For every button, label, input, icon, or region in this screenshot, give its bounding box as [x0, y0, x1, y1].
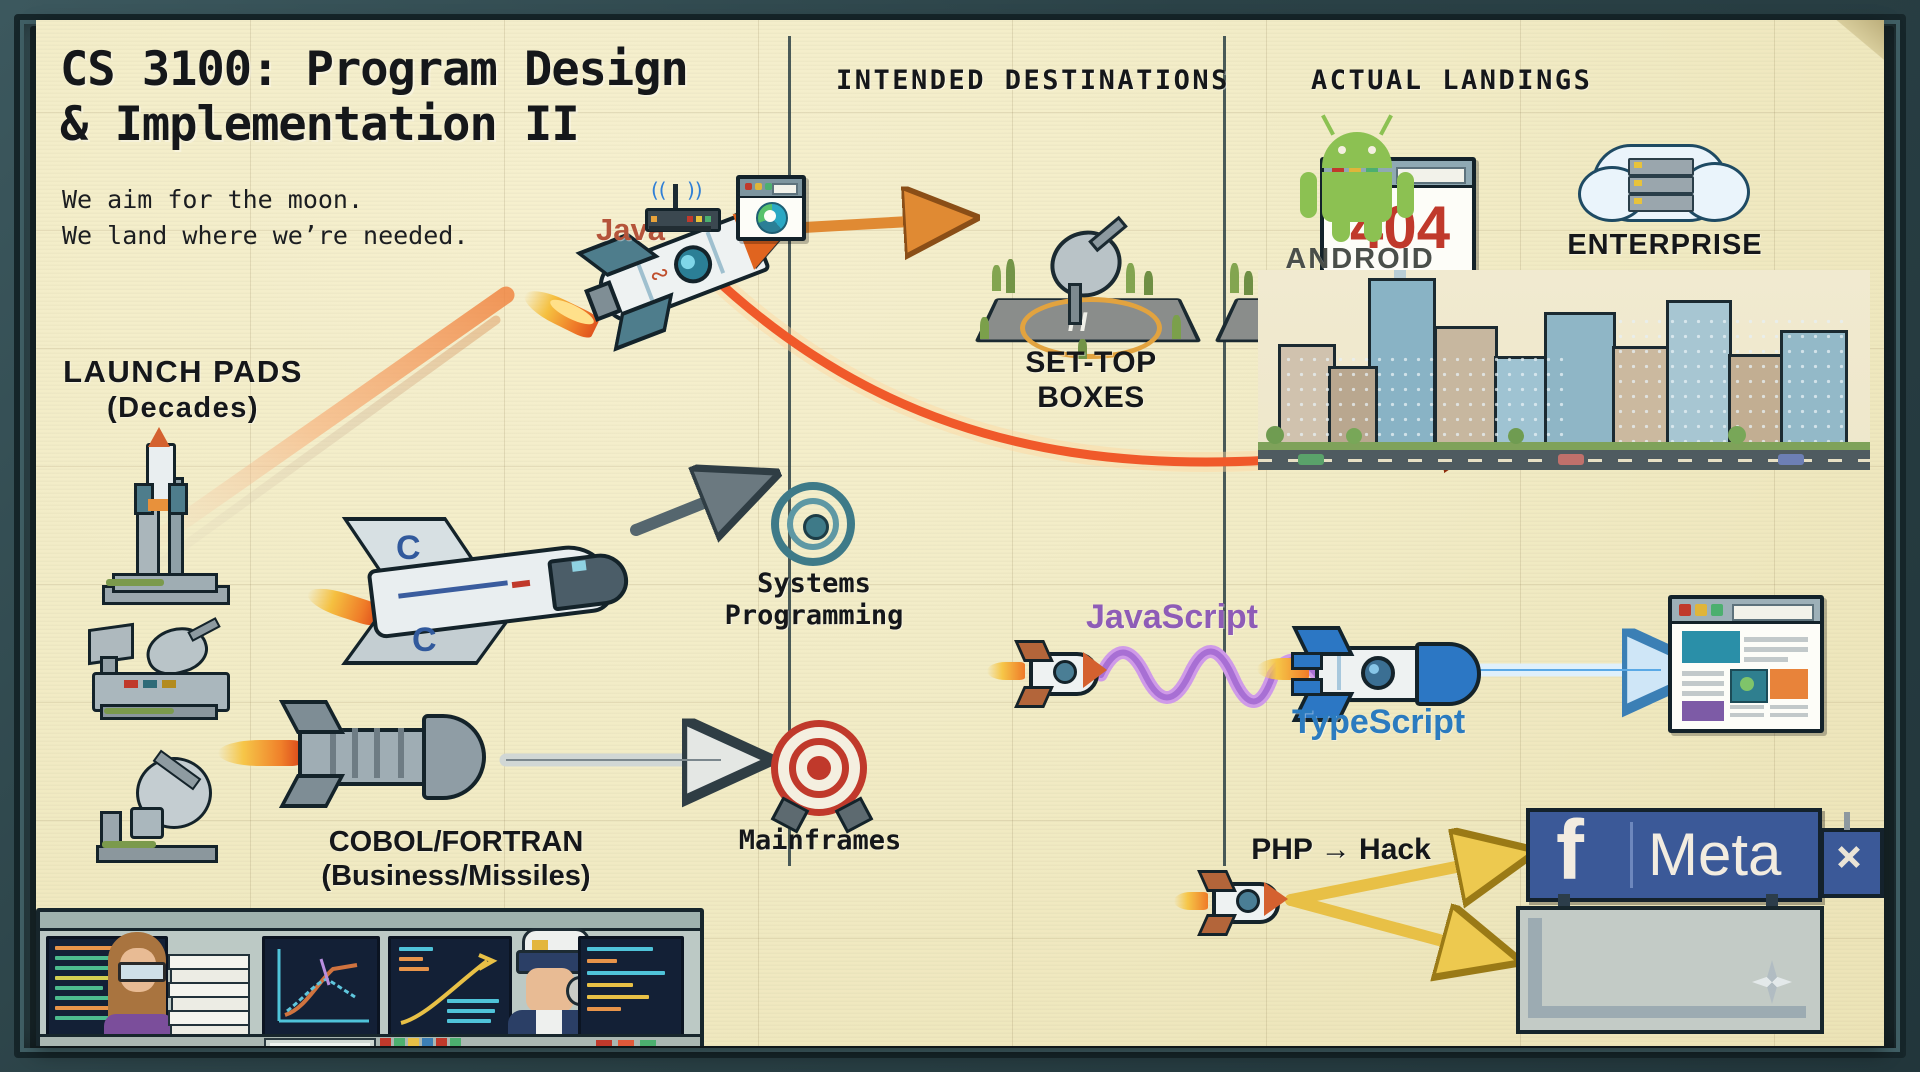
meta-wordmark: Meta: [1648, 820, 1781, 889]
label-mainframes: Mainframes: [712, 825, 928, 857]
poster-root: CS 3100: Program Design & Implementation…: [0, 0, 1920, 1072]
shuttle-marking-c-bottom: C: [412, 621, 437, 660]
launchpads-sublabel: (Decades): [58, 391, 308, 425]
label-typescript: TypeScript: [1292, 703, 1465, 742]
facebook-f-logo: f: [1556, 802, 1584, 899]
actual-landings-panel: ANDROID ENTERPRISE: [1242, 100, 1868, 540]
launchpad-gantry-tower: [84, 425, 244, 600]
settop-line1: SET-TOP: [976, 345, 1206, 380]
poster-page: CS 3100: Program Design & Implementation…: [36, 20, 1884, 1046]
label-php-hack: PHP → Hack: [1226, 832, 1456, 867]
label-cobol-fortran: COBOL/FORTRAN (Business/Missiles): [266, 825, 646, 893]
label-javascript: JavaScript: [1086, 598, 1258, 637]
arrow-php-down: [1291, 900, 1476, 950]
c-space-shuttle: C C: [336, 525, 656, 685]
column-divider-right: [1223, 36, 1226, 866]
label-systems-programming: Systems Programming: [696, 568, 932, 633]
cloud-server-icon: [1572, 128, 1752, 232]
city-skyline-icon: [1258, 270, 1870, 470]
mission-control-console: [36, 908, 704, 1046]
label-enterprise: ENTERPRISE: [1560, 228, 1770, 262]
label-set-top-boxes: SET-TOP BOXES: [976, 345, 1206, 416]
wifi-router-icon: (( )): [639, 178, 721, 236]
cobol-sublabel: (Business/Missiles): [266, 859, 646, 893]
console-side-switches[interactable]: [596, 1038, 676, 1046]
shuttle-marking-c-top: C: [396, 529, 421, 568]
cobol-label: COBOL/FORTRAN: [266, 825, 646, 859]
paper-stack: [168, 954, 246, 1046]
console-keyboard[interactable]: [264, 1038, 376, 1046]
screen-line-chart: [262, 936, 380, 1038]
javascript-rocket: [1011, 640, 1121, 710]
meta-billboard-icon: f Meta: [1526, 790, 1884, 950]
php-rocket: [1196, 870, 1306, 938]
android-robot-icon: [1302, 118, 1412, 236]
browser-window-icon: [736, 175, 806, 241]
column-header-actual: ACTUAL LANDINGS: [1311, 65, 1592, 96]
screen-telemetry: [578, 936, 684, 1038]
page-corner-fold: [1822, 20, 1884, 60]
column-header-launchpads: LAUNCH PADS (Decades): [58, 354, 308, 425]
launchpad-satellite-dish: [92, 755, 232, 865]
systems-label-line1: Systems: [696, 568, 932, 600]
page-title-line2: & Implementation II: [60, 97, 840, 152]
launchpads-label: LAUNCH PADS: [58, 354, 308, 391]
page-title: CS 3100: Program Design & Implementation…: [60, 42, 840, 153]
arrow-c-to-systems: [636, 490, 736, 530]
cobol-missile: [226, 710, 526, 810]
console-button-bank[interactable]: [380, 1038, 500, 1046]
page-title-line1: CS 3100: Program Design: [60, 42, 840, 97]
column-header-intended: INTENDED DESTINATIONS: [836, 65, 1230, 96]
gear-icon: [771, 482, 855, 566]
settop-line2: BOXES: [976, 380, 1206, 415]
target-icon: [771, 720, 867, 816]
systems-label-line2: Programming: [696, 600, 932, 632]
page-subtitle-line1: We aim for the moon.: [62, 182, 682, 218]
web-page-mockup-icon: [1668, 595, 1824, 733]
